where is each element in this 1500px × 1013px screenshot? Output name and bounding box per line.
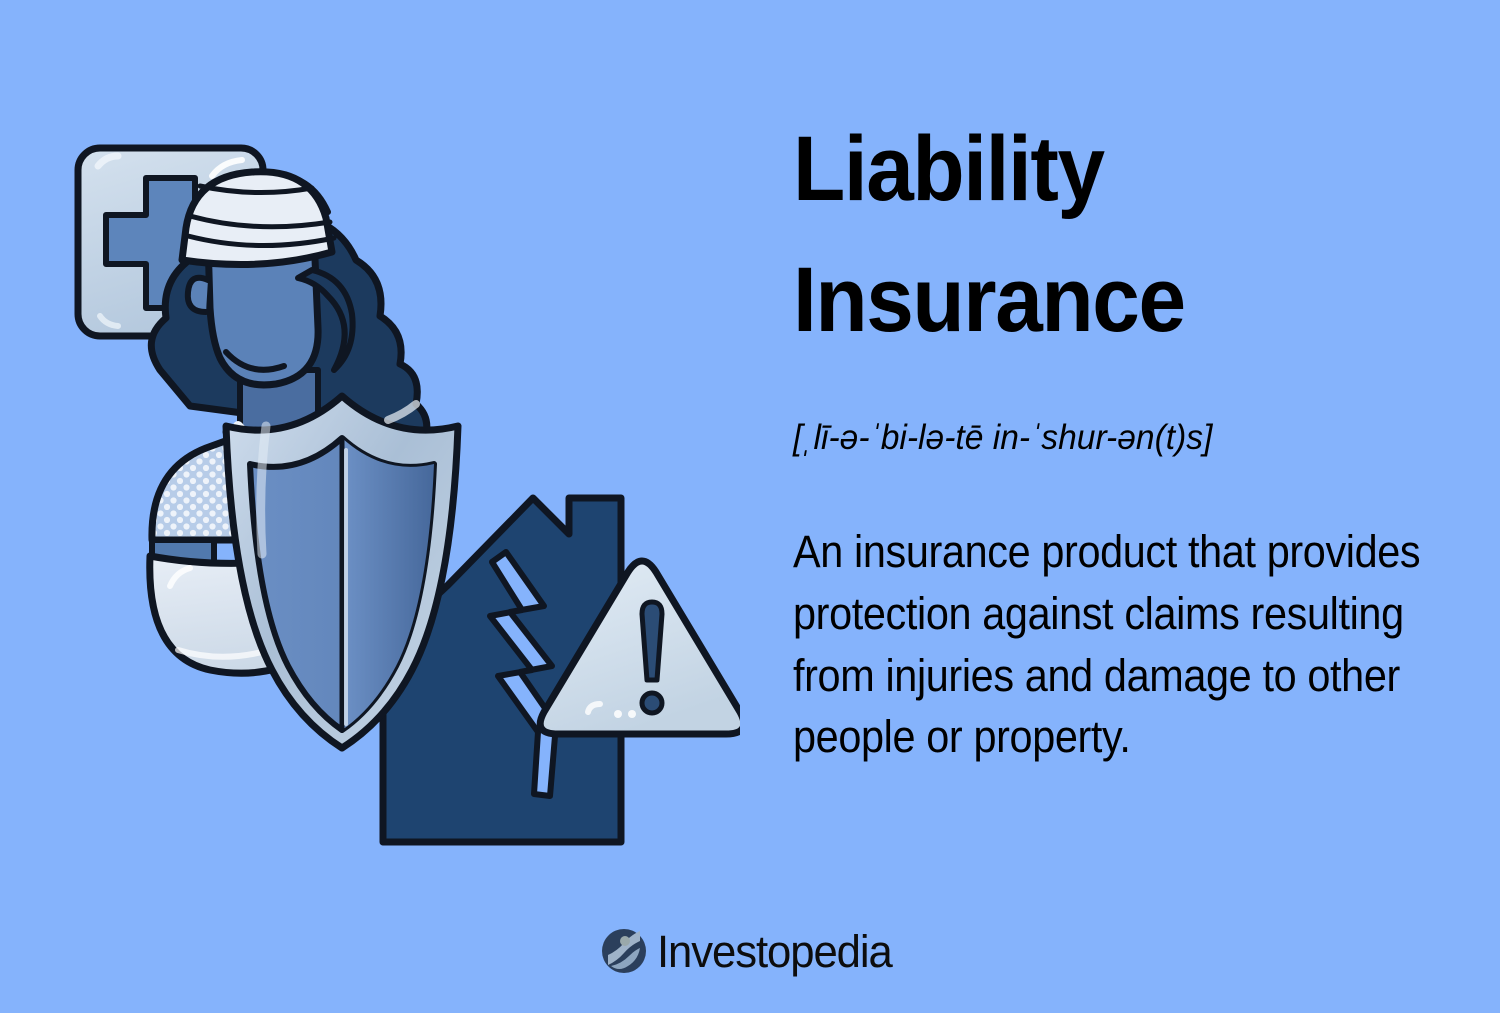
page-title: Liability Insurance — [793, 104, 1425, 365]
definition-card: Liability Insurance [ˌlī-ə-ˈbi-lə-tē in-… — [0, 0, 1500, 1013]
investopedia-wordmark: Investopedia — [657, 929, 892, 974]
investopedia-logo[interactable]: Investopedia — [0, 928, 1500, 974]
definition-text: An insurance product that provides prote… — [793, 459, 1465, 768]
liability-insurance-illustration — [40, 120, 740, 860]
investopedia-mark-icon — [601, 928, 647, 974]
definition-text-column: Liability Insurance [ˌlī-ə-ˈbi-lə-tē in-… — [793, 104, 1473, 768]
pronunciation: [ˌlī-ə-ˈbi-lə-tē in-ˈshur-ən(t)s] — [793, 365, 1446, 459]
